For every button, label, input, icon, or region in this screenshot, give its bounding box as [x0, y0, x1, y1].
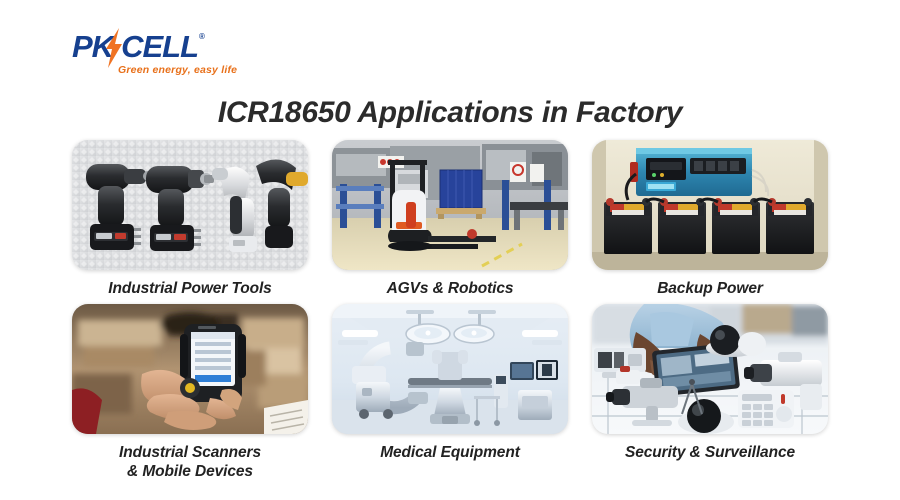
- card-caption: Security & Surveillance: [592, 443, 828, 462]
- card-caption: Industrial Scanners & Mobile Devices: [72, 443, 308, 481]
- brand-logo: PK CELL ® Green energy, easy life: [72, 32, 252, 82]
- card-agvs-robotics[interactable]: AGVs & Robotics: [332, 140, 568, 298]
- caption-line-1: AGVs & Robotics: [387, 280, 514, 297]
- page-title: ICR18650 Applications in Factory: [0, 96, 900, 130]
- caption-line-1: Security & Surveillance: [625, 444, 795, 461]
- card-caption: Backup Power: [592, 279, 828, 298]
- card-caption: AGVs & Robotics: [332, 279, 568, 298]
- card-industrial-scanners[interactable]: Industrial Scanners & Mobile Devices: [72, 304, 308, 481]
- card-industrial-power-tools[interactable]: Industrial Power Tools: [72, 140, 308, 298]
- logo-wordmark: PK CELL ®: [72, 32, 252, 62]
- card-medical-equipment[interactable]: Medical Equipment: [332, 304, 568, 481]
- card-backup-power[interactable]: Backup Power: [592, 140, 828, 298]
- agv-robotics-photo: [332, 140, 568, 270]
- application-card-grid: Industrial Power Tools: [72, 140, 828, 481]
- brand-tagline: Green energy, easy life: [118, 64, 252, 76]
- caption-line-1: Medical Equipment: [380, 444, 520, 461]
- lightning-bolt-icon: [104, 28, 124, 68]
- backup-power-photo: [592, 140, 828, 270]
- industrial-power-tools-photo: [72, 140, 308, 270]
- logo-text-cell: CELL: [121, 32, 198, 62]
- medical-equipment-photo: [332, 304, 568, 434]
- caption-line-1: Industrial Scanners: [119, 444, 261, 461]
- caption-line-2: & Mobile Devices: [72, 462, 308, 481]
- registered-trademark-mark: ®: [199, 32, 204, 42]
- card-security-surveillance[interactable]: Security & Surveillance: [592, 304, 828, 481]
- caption-line-1: Industrial Power Tools: [108, 280, 271, 297]
- card-caption: Industrial Power Tools: [72, 279, 308, 298]
- caption-line-1: Backup Power: [657, 280, 763, 297]
- card-caption: Medical Equipment: [332, 443, 568, 462]
- industrial-scanner-photo: [72, 304, 308, 434]
- security-surveillance-photo: [592, 304, 828, 434]
